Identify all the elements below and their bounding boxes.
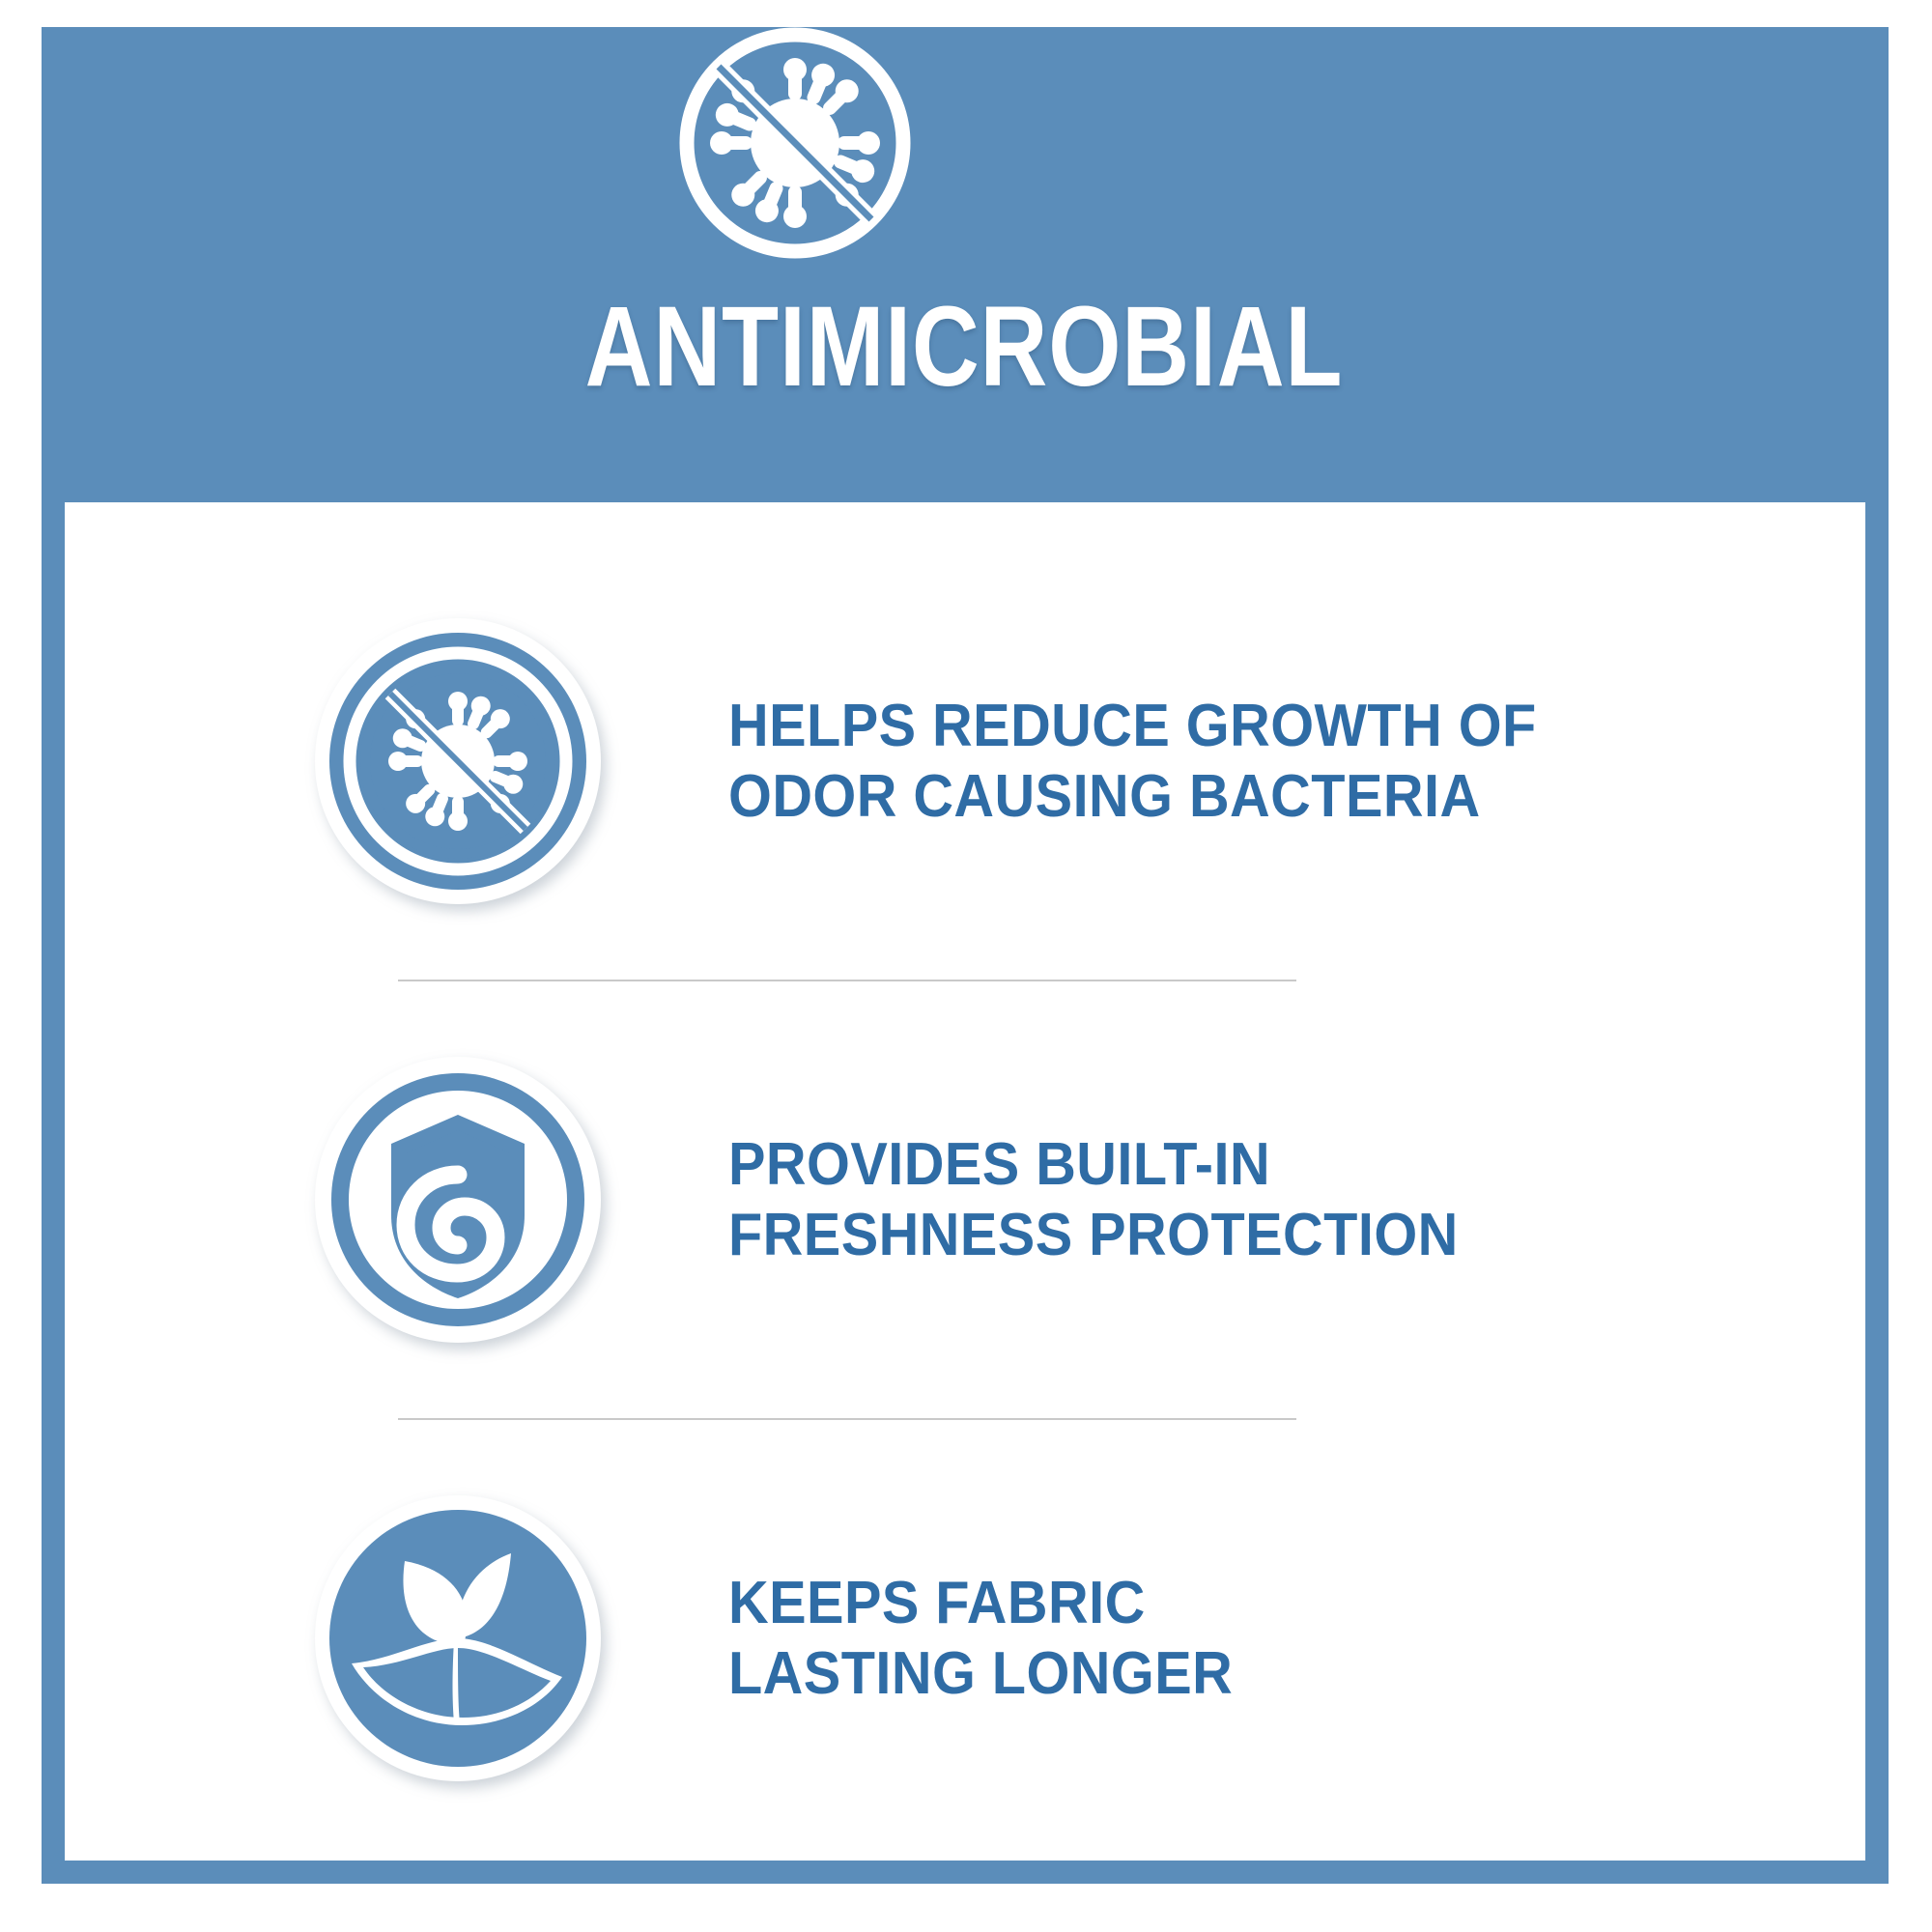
feature-line-1: KEEPS FABRIC [728,1568,1233,1638]
leaf-sprout-icon [313,1493,603,1783]
feature-line-1: HELPS REDUCE GROWTH OF [728,691,1537,761]
feature-line-2: FRESHNESS PROTECTION [728,1200,1459,1270]
no-germs-icon [313,616,603,906]
antimicrobial-infographic-card: ANTIMICROBIAL [32,19,1896,1891]
no-germs-icon [665,27,925,270]
feature-line-2: ODOR CAUSING BACTERIA [728,761,1537,832]
feature-line-2: LASTING LONGER [728,1638,1233,1709]
feature-row-text: PROVIDES BUILT-IN FRESHNESS PROTECTION [728,1129,1459,1270]
page-title: ANTIMICROBIAL [200,290,1729,404]
feature-line-1: PROVIDES BUILT-IN [728,1129,1459,1200]
shield-spiral-icon [313,1055,603,1345]
feature-row-freshness-protection: PROVIDES BUILT-IN FRESHNESS PROTECTION [65,981,1865,1418]
feature-row-text: KEEPS FABRIC LASTING LONGER [728,1568,1233,1709]
feature-row-reduce-bacteria: HELPS REDUCE GROWTH OF ODOR CAUSING BACT… [65,543,1865,980]
feature-row-fabric-longer: KEEPS FABRIC LASTING LONGER [65,1420,1865,1857]
feature-row-text: HELPS REDUCE GROWTH OF ODOR CAUSING BACT… [728,691,1537,832]
feature-list: HELPS REDUCE GROWTH OF ODOR CAUSING BACT… [65,502,1865,1861]
